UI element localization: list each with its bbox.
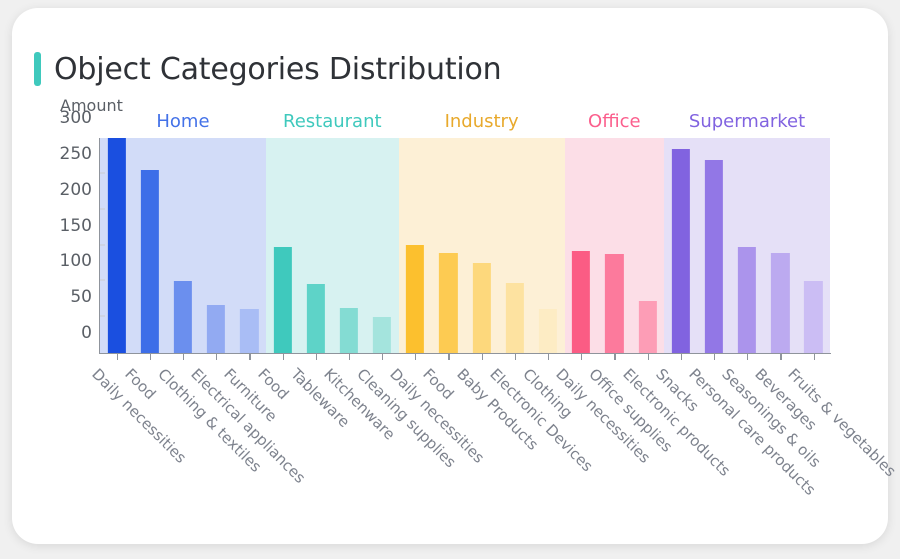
y-tick-label: 200	[60, 180, 92, 200]
x-tick-mark	[349, 353, 350, 360]
x-tick-slot	[598, 353, 631, 360]
y-tick-label: 250	[60, 144, 92, 164]
group-bars	[565, 138, 665, 353]
bar[interactable]	[174, 281, 192, 353]
x-tick-mark	[648, 353, 649, 360]
group-band-home: Home	[100, 138, 266, 353]
bar-slot	[432, 138, 465, 353]
bar-slot	[399, 138, 432, 353]
x-tick-mark	[780, 353, 781, 360]
y-tick-label: 100	[60, 251, 92, 271]
group-band-restaurant: Restaurant	[266, 138, 399, 353]
bar[interactable]	[638, 301, 656, 353]
bar[interactable]	[539, 309, 557, 353]
x-tick-mark	[415, 353, 416, 360]
x-tick-slot	[731, 353, 764, 360]
bar[interactable]	[506, 283, 524, 353]
bar-slot	[664, 138, 697, 353]
bar[interactable]	[439, 253, 457, 353]
x-tick-mark	[482, 353, 483, 360]
bar[interactable]	[141, 170, 159, 353]
y-tick-mark	[100, 244, 105, 245]
x-axis-ticks	[100, 353, 830, 360]
x-tick-slot	[332, 353, 365, 360]
x-tick-mark	[183, 353, 184, 360]
group-bars	[664, 138, 830, 353]
x-tick-slot	[697, 353, 730, 360]
bar[interactable]	[605, 254, 623, 353]
x-tick-slot	[166, 353, 199, 360]
bar[interactable]	[572, 251, 590, 353]
x-tick-mark	[714, 353, 715, 360]
chart-card: Object Categories Distribution Amount Ho…	[12, 8, 888, 544]
bar[interactable]	[273, 247, 291, 353]
bar[interactable]	[672, 149, 690, 353]
bar-slot	[498, 138, 531, 353]
x-tick-slot	[764, 353, 797, 360]
x-tick-mark	[614, 353, 615, 360]
x-tick-mark	[548, 353, 549, 360]
x-tick-slot	[233, 353, 266, 360]
x-tick-mark	[316, 353, 317, 360]
bar-slot	[365, 138, 398, 353]
group-band-office: Office	[565, 138, 665, 353]
x-tick-mark	[150, 353, 151, 360]
bar-slot	[233, 138, 266, 353]
bar-slot	[332, 138, 365, 353]
x-tick-mark	[814, 353, 815, 360]
bar-slot	[166, 138, 199, 353]
y-tick-mark	[100, 172, 105, 173]
group-bars	[100, 138, 266, 353]
bar-slot	[631, 138, 664, 353]
group-bands: HomeRestaurantIndustryOfficeSupermarket	[100, 138, 830, 353]
x-tick-mark	[515, 353, 516, 360]
x-tick-mark	[216, 353, 217, 360]
x-tick-mark	[681, 353, 682, 360]
group-label: Supermarket	[664, 111, 830, 132]
x-tick-slot	[366, 353, 399, 360]
x-tick-slot	[266, 353, 299, 360]
x-tick-slot	[531, 353, 564, 360]
bar-slot	[565, 138, 598, 353]
x-tick-mark	[448, 353, 449, 360]
group-label: Industry	[399, 111, 565, 132]
x-tick-slot	[100, 353, 133, 360]
bar[interactable]	[207, 305, 225, 353]
bar[interactable]	[340, 308, 358, 353]
x-tick-slot	[133, 353, 166, 360]
bar-slot	[730, 138, 763, 353]
x-tick-slot	[399, 353, 432, 360]
bar-slot	[598, 138, 631, 353]
x-tick-slot	[565, 353, 598, 360]
bar-slot	[797, 138, 830, 353]
x-tick-slot	[498, 353, 531, 360]
bar[interactable]	[373, 317, 391, 353]
plot-area: HomeRestaurantIndustryOfficeSupermarket …	[100, 138, 830, 353]
group-bars	[266, 138, 399, 353]
x-tick-mark	[249, 353, 250, 360]
bar-slot	[100, 138, 133, 353]
bar-slot	[200, 138, 233, 353]
y-tick-mark	[100, 208, 105, 209]
y-tick-label: 50	[70, 287, 92, 307]
bar-slot	[764, 138, 797, 353]
y-tick-mark	[100, 316, 105, 317]
bar[interactable]	[406, 245, 424, 353]
group-bars	[399, 138, 565, 353]
x-tick-mark	[283, 353, 284, 360]
bar-slot	[697, 138, 730, 353]
group-label: Office	[565, 111, 665, 132]
bar[interactable]	[240, 309, 258, 353]
x-tick-slot	[299, 353, 332, 360]
x-tick-slot	[432, 353, 465, 360]
y-tick-mark	[100, 280, 105, 281]
group-label: Home	[100, 111, 266, 132]
bar[interactable]	[107, 138, 125, 353]
group-label: Restaurant	[266, 111, 399, 132]
y-tick-label: 300	[60, 108, 92, 128]
x-tick-slot	[465, 353, 498, 360]
bar[interactable]	[472, 263, 490, 353]
title-label: Object Categories Distribution	[54, 52, 502, 87]
bar[interactable]	[771, 253, 789, 353]
x-tick-slot	[200, 353, 233, 360]
bar[interactable]	[804, 281, 822, 353]
bar-slot	[531, 138, 564, 353]
x-tick-slot	[631, 353, 664, 360]
y-tick-label: 150	[60, 216, 92, 236]
x-tick-mark	[747, 353, 748, 360]
group-band-industry: Industry	[399, 138, 565, 353]
title-accent-bar	[34, 52, 41, 86]
x-tick-slot	[664, 353, 697, 360]
bar-slot	[465, 138, 498, 353]
y-tick-label: 0	[81, 323, 92, 343]
bar[interactable]	[307, 284, 325, 353]
bar-slot	[266, 138, 299, 353]
x-tick-mark	[581, 353, 582, 360]
page-title: Object Categories Distribution	[34, 48, 502, 90]
x-tick-mark	[382, 353, 383, 360]
x-tick-mark	[117, 353, 118, 360]
x-tick-slot	[797, 353, 830, 360]
bar-slot	[299, 138, 332, 353]
bar[interactable]	[738, 247, 756, 353]
bar-slot	[133, 138, 166, 353]
bar[interactable]	[705, 160, 723, 354]
group-band-supermarket: Supermarket	[664, 138, 830, 353]
